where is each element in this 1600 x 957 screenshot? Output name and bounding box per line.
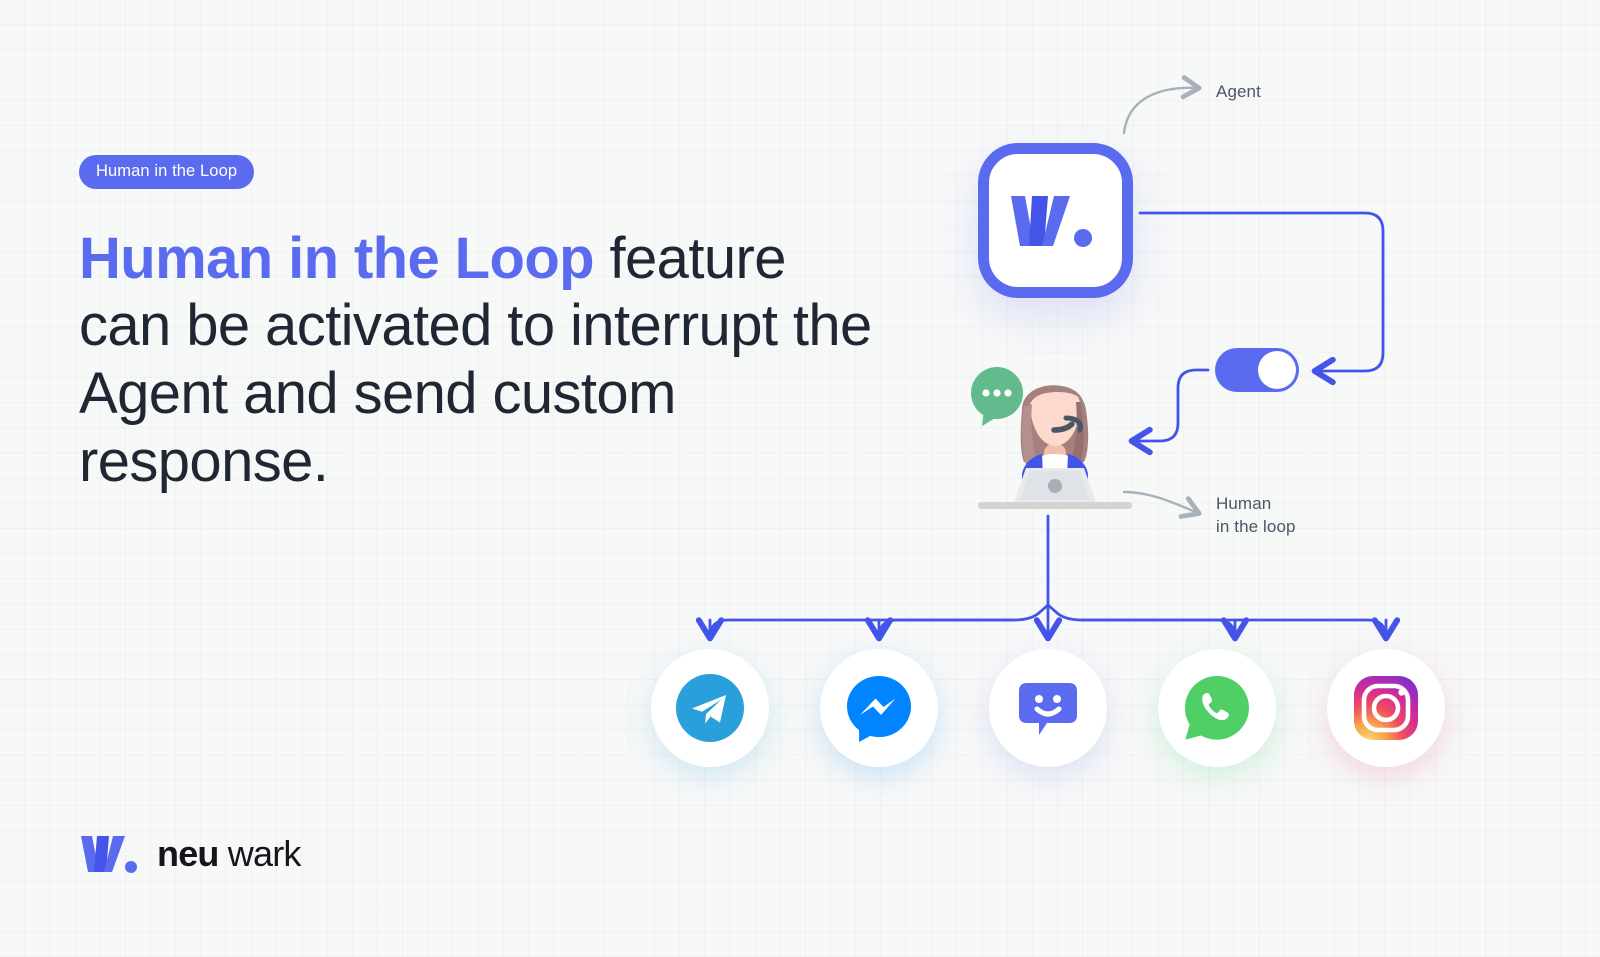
channel-webchat[interactable] (989, 649, 1107, 767)
channel-messenger[interactable] (820, 649, 938, 767)
headline-highlight: Human in the Loop (79, 226, 594, 291)
slide-canvas: Human in the Loop Human in the Loop feat… (0, 0, 1600, 957)
chat-bubble-icon (971, 367, 1023, 426)
text-column: Human in the Loop Human in the Loop feat… (79, 155, 909, 496)
branch-left-outer (710, 605, 1048, 638)
chat-smiley-icon (1017, 677, 1079, 739)
branch-left-inner (879, 620, 1014, 638)
human-agent-illustration (962, 358, 1137, 523)
toggle-knob[interactable] (1258, 351, 1296, 389)
telegram-icon (676, 674, 744, 742)
messenger-icon (845, 674, 913, 742)
branch-right-inner (1082, 620, 1235, 638)
neuwark-w-logo-icon (1008, 190, 1104, 252)
neuwark-w-mark-icon (79, 832, 141, 876)
agent-label-arrow (1124, 88, 1198, 133)
human-in-the-loop-toggle[interactable] (1215, 348, 1299, 392)
label-agent: Agent (1216, 80, 1261, 103)
channel-whatsapp[interactable] (1158, 649, 1276, 767)
brand-wordmark: neu wark (157, 836, 301, 872)
label-human-in-the-loop: Human in the loop (1216, 492, 1296, 539)
agent-logo-card (978, 143, 1133, 298)
branch-right-outer (1048, 605, 1386, 638)
channel-instagram[interactable] (1327, 649, 1445, 767)
status-badge: Human in the Loop (79, 155, 254, 189)
page-title: Human in the Loop feature can be activat… (79, 225, 879, 496)
channel-telegram[interactable] (651, 649, 769, 767)
brand-name-bold: neu (157, 833, 219, 874)
brand-name-light: wark (219, 833, 301, 874)
toggle-to-human-path (1133, 370, 1208, 441)
instagram-icon (1353, 675, 1419, 741)
whatsapp-icon (1183, 674, 1251, 742)
brand-lockup: neu wark (79, 832, 301, 876)
